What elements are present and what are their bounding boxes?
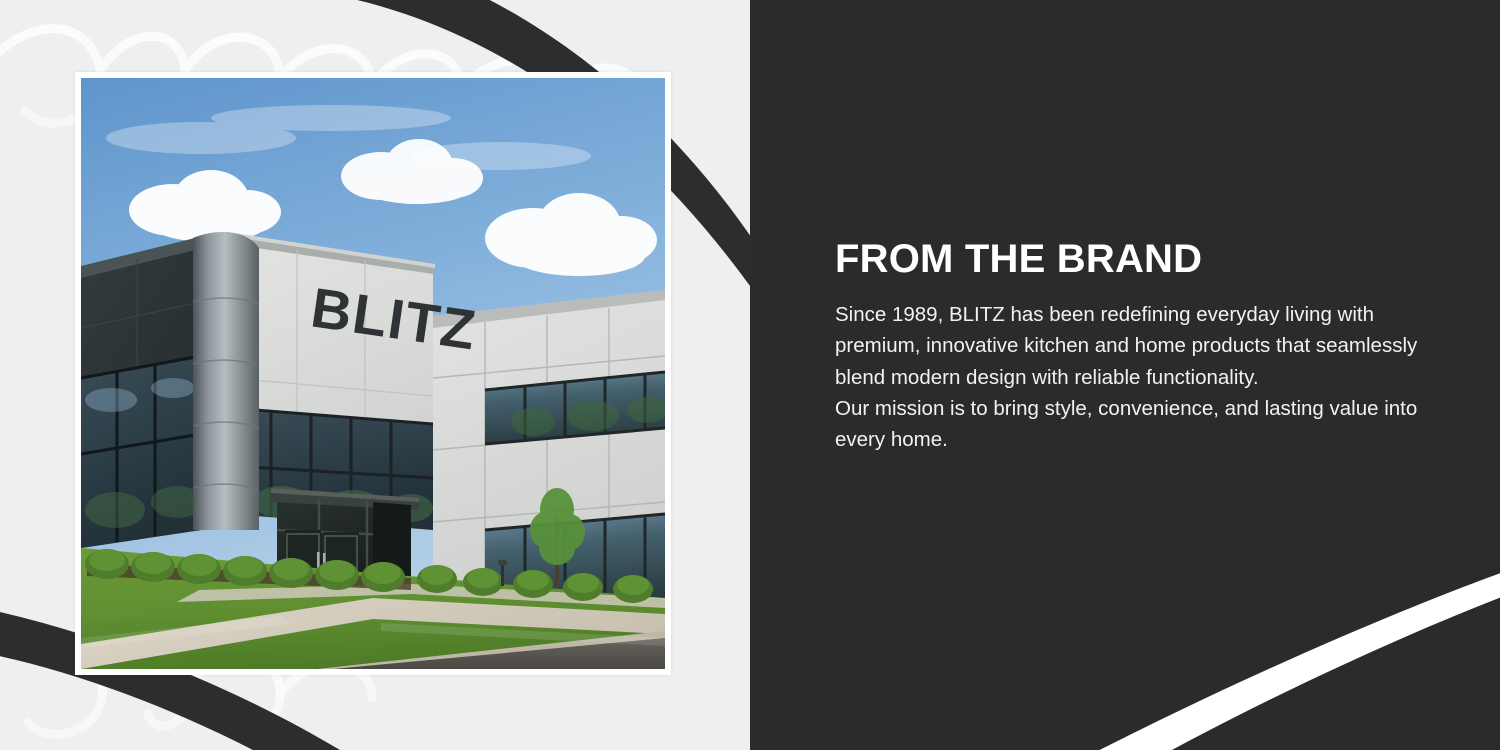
brand-copy-block: FROM THE BRAND Since 1989, BLITZ has bee… bbox=[835, 238, 1435, 456]
building-photo: BLITZ bbox=[81, 78, 665, 669]
brand-paragraph-2: Our mission is to bring style, convenien… bbox=[835, 393, 1420, 456]
page-title: FROM THE BRAND bbox=[835, 238, 1435, 280]
building-photo-illustration: BLITZ bbox=[81, 78, 665, 669]
left-image-panel: BLITZ bbox=[0, 0, 750, 750]
building-photo-frame: BLITZ bbox=[75, 72, 671, 675]
right-text-panel: FROM THE BRAND Since 1989, BLITZ has bee… bbox=[750, 0, 1500, 750]
brand-banner: BLITZ bbox=[0, 0, 1500, 750]
brand-description: Since 1989, BLITZ has been redefining ev… bbox=[835, 299, 1420, 456]
brand-paragraph-1: Since 1989, BLITZ has been redefining ev… bbox=[835, 299, 1420, 393]
